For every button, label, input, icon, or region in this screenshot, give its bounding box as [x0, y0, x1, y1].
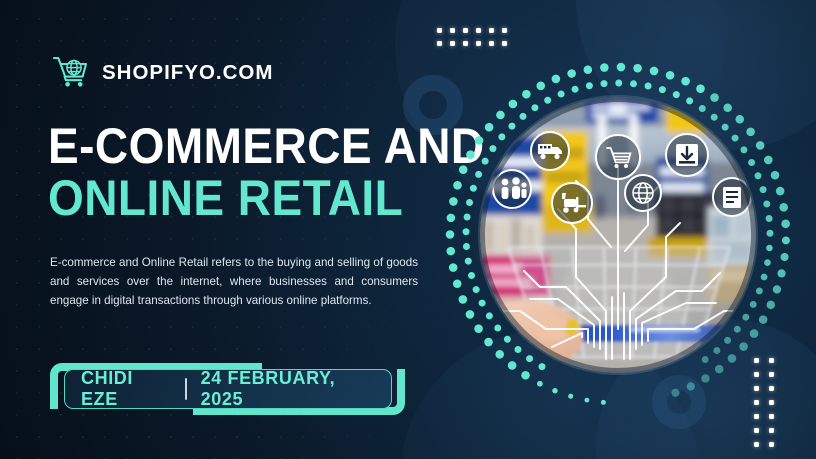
ring-dot [756, 288, 763, 295]
ring-dot [645, 83, 652, 90]
ring-dot [630, 80, 637, 87]
ring-dot [659, 86, 666, 93]
ring-dot [531, 104, 538, 111]
ring-dot [732, 135, 739, 142]
ring-dot [722, 124, 729, 131]
badge-inner: CHIDI EZE 24 FEBRUARY, 2025 [64, 369, 392, 409]
ring-dot [699, 105, 706, 112]
ring-dot [520, 113, 527, 120]
ring-dot [447, 214, 456, 223]
ring-dot [508, 361, 517, 370]
ring-dot [710, 93, 719, 102]
author-name: CHIDI EZE [81, 368, 171, 410]
ring-dot [453, 181, 462, 190]
ring-dot [673, 91, 680, 98]
ring-dot [767, 301, 775, 309]
ring-dot [764, 259, 771, 266]
publish-date: 24 FEBRUARY, 2025 [201, 368, 375, 410]
ring-dot [449, 263, 458, 272]
grid-dot [476, 41, 481, 46]
ring-dot [701, 374, 709, 382]
ring-dot [724, 337, 731, 344]
ring-dot [466, 199, 473, 206]
ring-dot [759, 315, 768, 324]
ring-dot [504, 336, 511, 343]
grid-dot [489, 28, 494, 33]
ring-dot [777, 269, 785, 277]
ring-dot [479, 300, 486, 307]
hero-image-stage [443, 60, 793, 410]
grid-dot [489, 41, 494, 46]
ring-dot [474, 324, 483, 333]
ring-dot [449, 197, 458, 206]
ring-dot [715, 365, 724, 374]
description-text: E-commerce and Online Retail refers to t… [50, 253, 418, 311]
ring-dot [465, 258, 472, 265]
ring-dot [763, 200, 770, 207]
ring-dot [764, 156, 773, 165]
ring-dot [486, 312, 493, 319]
ring-dot [495, 350, 504, 359]
ring-dot [515, 346, 522, 353]
ring-dot [470, 185, 477, 192]
ring-dot [601, 80, 608, 87]
ring-dot [496, 111, 505, 120]
ring-dot [522, 90, 531, 99]
ring-dot [782, 237, 790, 245]
ring-dot [711, 114, 718, 121]
ring-dot [740, 146, 747, 153]
ring-dot [552, 75, 561, 84]
grid-dot [463, 28, 468, 33]
ring-dot [686, 97, 693, 104]
ring-dot [761, 274, 768, 281]
badge-separator [185, 378, 187, 400]
supermarket-photo [480, 97, 756, 373]
ring-dot [489, 145, 496, 152]
ring-dot [779, 203, 788, 212]
ring-dot [466, 150, 475, 159]
ring-dot [766, 215, 773, 222]
ring-dot [572, 86, 579, 93]
page-title: E-COMMERCE AND ONLINE RETAIL [48, 120, 448, 224]
ring-dot [748, 159, 755, 166]
ring-dot [600, 63, 609, 72]
grid-dot [437, 41, 442, 46]
ring-dot [521, 371, 530, 380]
ring-dot [584, 398, 589, 403]
ring-dot [633, 64, 642, 73]
ring-dot [459, 165, 468, 174]
ring-dot [773, 285, 781, 293]
grid-dot [476, 28, 481, 33]
ring-dot [760, 186, 767, 193]
grid-dot [754, 414, 759, 419]
ring-dot [475, 136, 484, 145]
ring-dot [463, 228, 470, 235]
ring-dot [473, 286, 480, 293]
ring-dot [468, 272, 475, 279]
ring-dot [750, 301, 757, 308]
ring-dot [776, 187, 785, 196]
ring-dot [713, 347, 720, 354]
ring-dot [539, 363, 546, 370]
ring-dot [586, 82, 593, 89]
hero-image [480, 97, 756, 373]
ring-dot [754, 172, 761, 179]
brand-logo[interactable]: SHOPIFYO.COM [52, 55, 273, 91]
ring-dot [615, 80, 622, 87]
ring-dot [552, 388, 557, 393]
grid-dot [754, 428, 759, 433]
ring-dot [781, 253, 789, 261]
brand-name: SHOPIFYO.COM [102, 61, 273, 85]
ring-dot [781, 220, 790, 229]
headline-line-2: ONLINE RETAIL [48, 172, 416, 224]
ring-dot [482, 158, 489, 165]
ring-dot [464, 214, 471, 221]
ring-dot [508, 123, 515, 130]
ring-dot [536, 82, 545, 91]
ring-dot [584, 65, 593, 74]
grid-dot [450, 28, 455, 33]
ring-dot [617, 63, 626, 72]
ring-dot [544, 97, 551, 104]
headline-line-1: E-COMMERCE AND [48, 120, 416, 172]
ring-dot [484, 338, 493, 347]
ring-dot [568, 394, 573, 399]
ring-dot [494, 325, 501, 332]
ring-dot [666, 71, 675, 80]
ring-dot [463, 243, 470, 250]
ring-dot [567, 69, 576, 78]
ring-dot [650, 67, 659, 76]
grid-dot [502, 28, 507, 33]
ring-dot [681, 77, 690, 86]
ring-dot [537, 381, 543, 387]
ring-dot [459, 295, 468, 304]
grid-dot [769, 414, 774, 419]
grid-dot [754, 442, 759, 447]
ring-dot [446, 230, 455, 239]
shopping-cart-globe-icon [52, 55, 92, 91]
grid-dot [769, 428, 774, 433]
ring-dot [728, 354, 737, 363]
grid-dot [502, 41, 507, 46]
left-content: SHOPIFYO.COM E-COMMERCE AND ONLINE RETAI… [48, 0, 428, 459]
ring-dot [498, 133, 505, 140]
ring-dot [771, 171, 780, 180]
ring-dot [766, 230, 773, 237]
ring-dot [696, 84, 705, 93]
ring-dot [723, 103, 732, 112]
grid-dot [463, 41, 468, 46]
ring-dot [446, 247, 455, 256]
ring-dot [687, 382, 695, 390]
ring-dot [702, 356, 709, 363]
ring-dot [558, 91, 565, 98]
ring-dot [739, 342, 748, 351]
ring-dot [742, 314, 749, 321]
ring-dot [475, 171, 482, 178]
ring-dot [485, 123, 494, 132]
dot-grid-top [437, 28, 515, 54]
byline-badge: CHIDI EZE 24 FEBRUARY, 2025 [50, 363, 405, 415]
banner: SHOPIFYO.COM E-COMMERCE AND ONLINE RETAI… [0, 0, 816, 459]
grid-dot [769, 442, 774, 447]
ring-dot [526, 355, 533, 362]
ring-dot [766, 245, 773, 252]
ring-dot [509, 100, 518, 109]
ring-dot [453, 279, 462, 288]
grid-dot [437, 28, 442, 33]
ring-dot [756, 141, 765, 150]
ring-dot [601, 400, 606, 405]
grid-dot [450, 41, 455, 46]
ring-dot [735, 115, 744, 124]
ring-dot [671, 389, 679, 397]
ring-dot [466, 310, 475, 319]
ring-dot [750, 329, 759, 338]
ring-dot [746, 128, 755, 137]
ring-dot [734, 326, 741, 333]
